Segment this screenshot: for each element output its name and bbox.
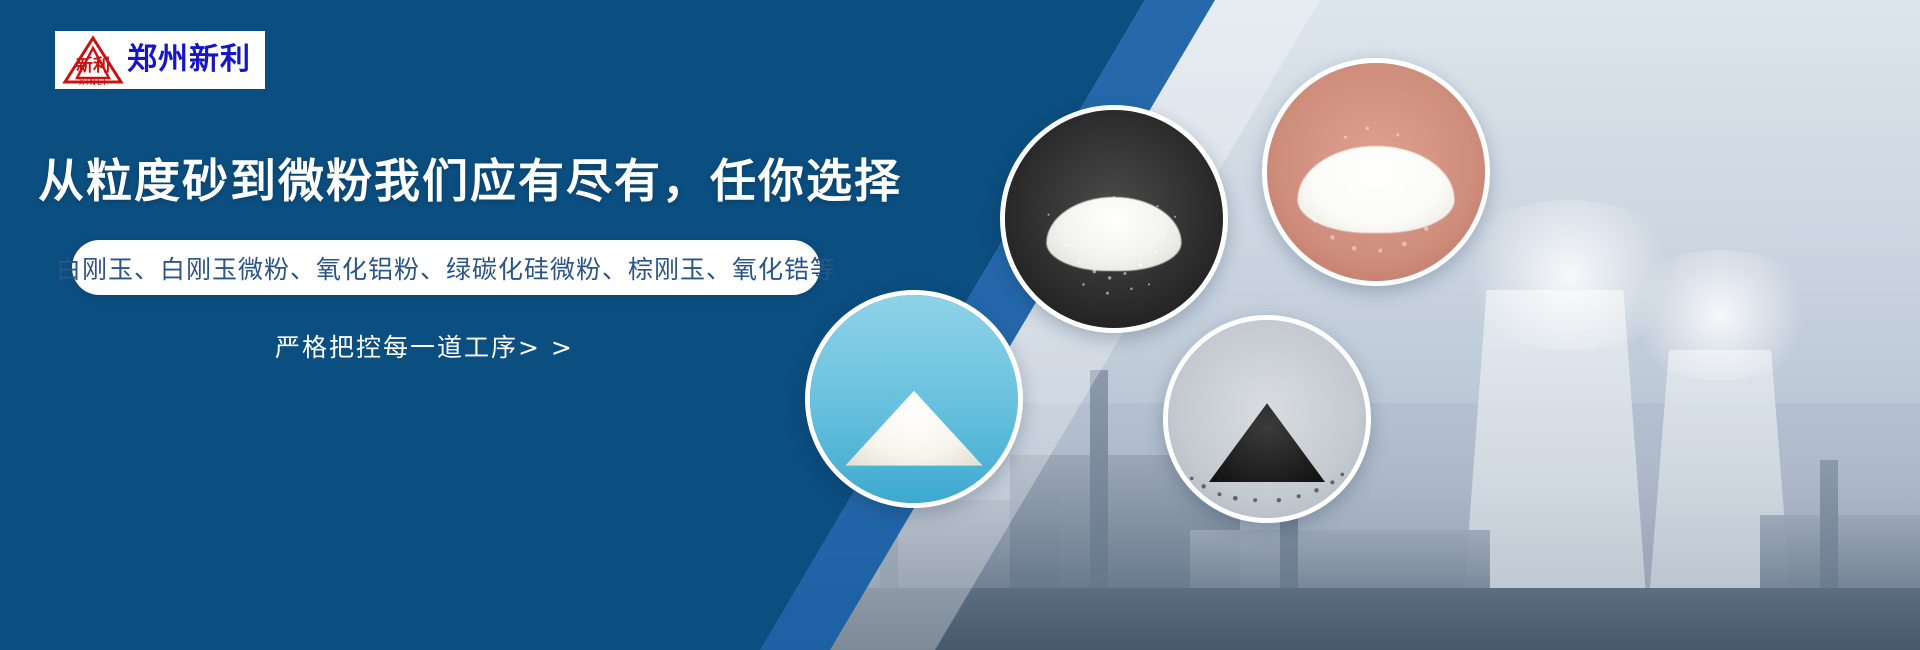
product-photo-alumina-powder — [805, 290, 1023, 508]
company-logo[interactable]: 新利 XINLI 郑州新利 — [55, 31, 265, 89]
product-list-pill: 白刚玉、白刚玉微粉、氧化铝粉、绿碳化硅微粉、棕刚玉、氧化锆等 — [72, 240, 820, 295]
svg-text:新利: 新利 — [76, 55, 110, 76]
hero-headline: 从粒度砂到微粉我们应有尽有，任你选择 — [38, 145, 902, 211]
dish-surface — [1168, 320, 1366, 518]
svg-text:XINLI: XINLI — [79, 78, 107, 86]
product-photo-silicon-carbide — [1163, 315, 1371, 523]
promo-banner: 新利 XINLI 郑州新利 从粒度砂到微粉我们应有尽有，任你选择 白刚玉、白刚玉… — [0, 0, 1920, 650]
xinli-triangle-icon: 新利 XINLI — [61, 34, 125, 86]
product-list-text: 白刚玉、白刚玉微粉、氧化铝粉、绿碳化硅微粉、棕刚玉、氧化锆等 — [56, 250, 836, 286]
dish-surface — [1005, 110, 1223, 328]
dish-surface — [1267, 63, 1485, 281]
powder-dust — [1267, 63, 1485, 281]
smoke-plume — [1620, 250, 1820, 380]
company-name: 郑州新利 — [127, 45, 251, 75]
material-heap — [845, 391, 982, 466]
grit-speckles — [1005, 110, 1223, 328]
grit-speckles — [1168, 320, 1366, 518]
product-photo-white-micro-powder — [1262, 58, 1490, 286]
process-cta-link[interactable]: 严格把控每一道工序> > — [275, 328, 574, 364]
dish-surface — [810, 295, 1018, 503]
product-photo-white-grit — [1000, 105, 1228, 333]
